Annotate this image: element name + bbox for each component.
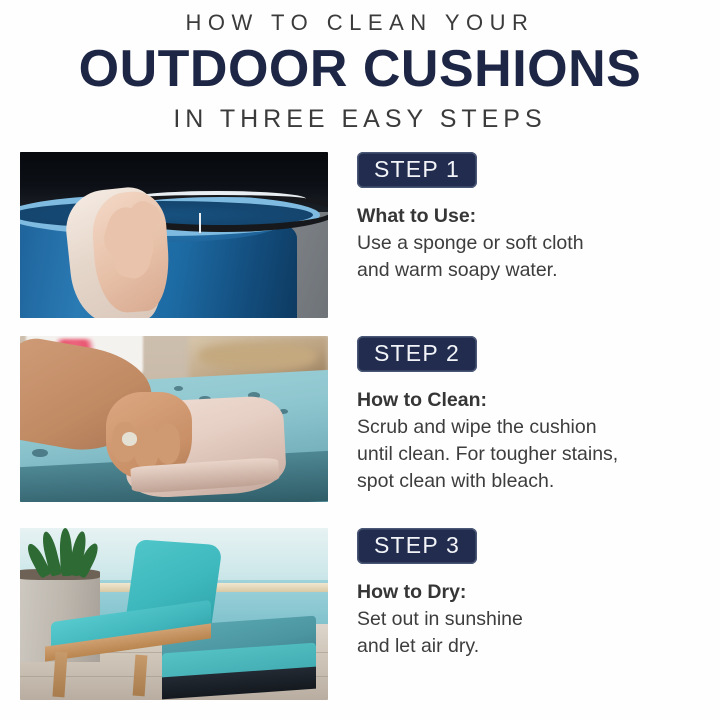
step-2-body-line: spot clean with bleach. — [357, 468, 707, 495]
step-2-body-line: Scrub and wipe the cushion — [357, 414, 707, 441]
step-1-badge: STEP 1 — [357, 152, 477, 188]
step-3-heading: How to Dry: — [357, 579, 707, 605]
step-3-text: STEP 3 How to Dry: Set out in sunshine a… — [357, 528, 707, 660]
step-row-2: STEP 2 How to Clean: Scrub and wipe the … — [0, 336, 720, 502]
step-1-body-line: Use a sponge or soft cloth — [357, 230, 707, 257]
step-2-badge: STEP 2 — [357, 336, 477, 372]
wiping-cushion-photo-illustration — [20, 336, 328, 502]
poster-header: HOW TO CLEAN YOUR OUTDOOR CUSHIONS IN TH… — [0, 0, 720, 136]
page-title: OUTDOOR CUSHIONS — [0, 40, 720, 98]
bucket-photo-illustration — [20, 152, 328, 318]
step-1-body: Use a sponge or soft cloth and warm soap… — [357, 230, 707, 284]
step-3-body-line: and let air dry. — [357, 633, 707, 660]
step-1-heading: What to Use: — [357, 203, 707, 229]
step-1-photo — [20, 152, 328, 318]
header-kicker: HOW TO CLEAN YOUR — [0, 8, 720, 38]
infographic-poster: HOW TO CLEAN YOUR OUTDOOR CUSHIONS IN TH… — [0, 0, 720, 720]
step-1-body-line: and warm soapy water. — [357, 257, 707, 284]
step-2-photo — [20, 336, 328, 502]
step-2-body-line: until clean. For tougher stains, — [357, 441, 707, 468]
header-subkicker: IN THREE EASY STEPS — [0, 102, 720, 136]
step-3-photo — [20, 528, 328, 700]
step-2-text: STEP 2 How to Clean: Scrub and wipe the … — [357, 336, 707, 495]
step-row-1: STEP 1 What to Use: Use a sponge or soft… — [0, 152, 720, 318]
step-3-body: Set out in sunshine and let air dry. — [357, 606, 707, 660]
chaise-lounge-photo-illustration — [20, 528, 328, 700]
step-1-text: STEP 1 What to Use: Use a sponge or soft… — [357, 152, 707, 284]
step-2-body: Scrub and wipe the cushion until clean. … — [357, 414, 707, 495]
step-2-heading: How to Clean: — [357, 387, 707, 413]
step-3-badge: STEP 3 — [357, 528, 477, 564]
step-row-3: STEP 3 How to Dry: Set out in sunshine a… — [0, 528, 720, 700]
step-3-body-line: Set out in sunshine — [357, 606, 707, 633]
